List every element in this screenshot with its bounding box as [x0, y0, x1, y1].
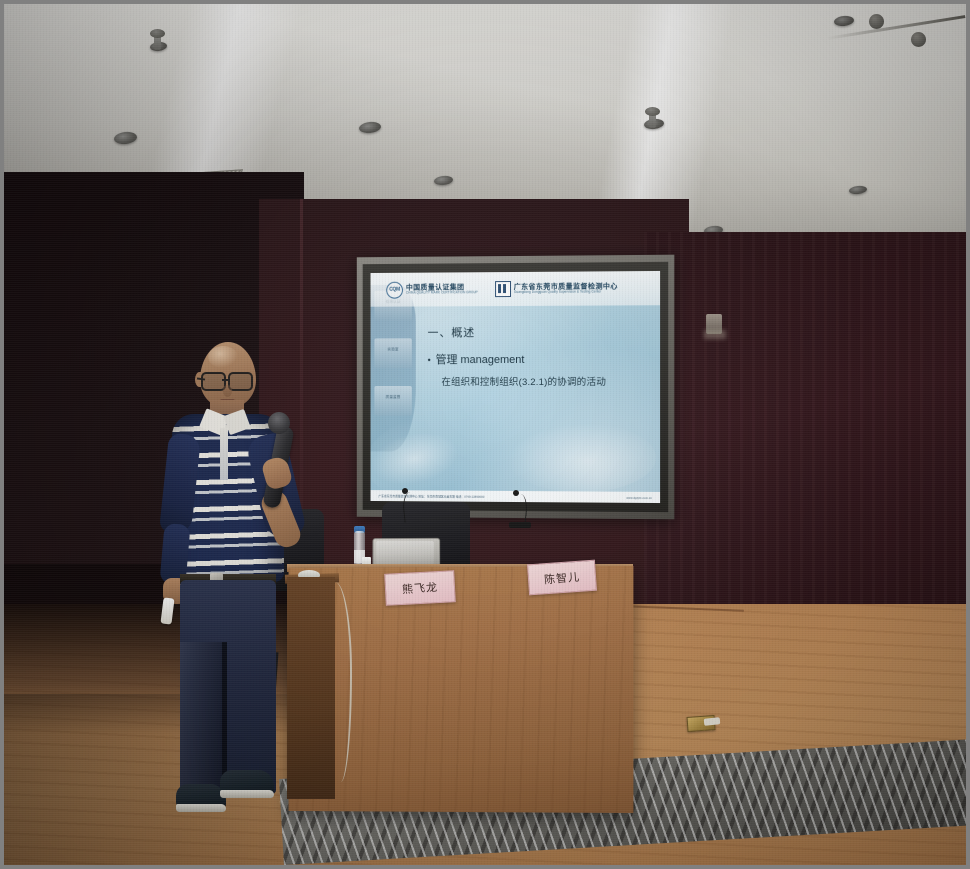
slide-bullet-text: 管理 management	[436, 351, 525, 367]
bullet-marker-icon: •	[428, 356, 431, 365]
speaker-nose	[223, 385, 232, 397]
track-light-icon	[911, 32, 926, 47]
track-light-icon	[869, 14, 884, 29]
conference-presentation-photo: 检测认证 实验室 质量监督 CQM 中国质量认证集团 CHINA QUALITY…	[0, 0, 970, 869]
ceiling-hook-icon	[649, 112, 656, 128]
slide-bullet-item: • 管理 management	[428, 351, 650, 367]
gdtc-logo-en: Guangdong Dongguan Quality Supervision &…	[514, 290, 614, 294]
slide-side-block: 实验室	[374, 338, 411, 368]
presentation-slide: 检测认证 实验室 质量监督 CQM 中国质量认证集团 CHINA QUALITY…	[371, 271, 661, 503]
gdtc-logo-text: 广东省东莞市质量监督检测中心 Guangdong Dongguan Qualit…	[514, 283, 618, 294]
gdtc-mark-icon	[495, 281, 511, 297]
slide-heading: 一、概述	[428, 323, 650, 340]
desk-microphone-stem	[401, 491, 419, 522]
name-card-text: 熊飞龙	[401, 579, 438, 597]
slide-decorative-swirl	[505, 422, 656, 493]
glasses-bridge-icon	[222, 379, 229, 381]
speaker-person	[164, 342, 294, 840]
speaker-shoe-sole-right	[220, 790, 274, 798]
slide-sub-text: 在组织和控制组织(3.2.1)的协调的活动	[428, 374, 650, 388]
slide-header: CQM 中国质量认证集团 CHINA QUALITY MARK CERTIFIC…	[371, 271, 661, 307]
name-card: 陈智儿	[527, 560, 597, 596]
desk-microphone-head-icon	[513, 490, 519, 496]
speaker-shoe-sole-left	[176, 804, 226, 812]
projection-screen: 检测认证 实验室 质量监督 CQM 中国质量认证集团 CHINA QUALITY…	[357, 255, 675, 520]
speaker-leg-shading	[180, 642, 222, 794]
shirt-placket	[220, 428, 228, 480]
desk-microphone-base	[509, 522, 531, 528]
lectern-cable	[324, 582, 352, 782]
slide-body: 一、概述 • 管理 management 在组织和控制组织(3.2.1)的协调的…	[428, 323, 650, 388]
speaker-head-highlight	[208, 346, 238, 368]
slide-footer-right: www.dgzjzx.com.cn	[626, 495, 652, 499]
name-card: 熊飞龙	[384, 570, 456, 606]
ceiling-hook-icon	[154, 34, 161, 50]
cqm-logo: CQM 中国质量认证集团 CHINA QUALITY MARK CERTIFIC…	[386, 281, 481, 298]
wall-fixture-glow	[704, 330, 726, 339]
wireless-presenter-remote[interactable]	[160, 597, 174, 624]
gdtc-logo: 广东省东莞市质量监督检测中心 Guangdong Dongguan Qualit…	[495, 280, 618, 297]
name-card-text: 陈智儿	[543, 568, 580, 587]
desk-microphone-head-icon	[402, 488, 408, 494]
screen-surface: 检测认证 实验室 质量监督 CQM 中国质量认证集团 CHINA QUALITY…	[371, 271, 661, 503]
cqm-logo-en: CHINA QUALITY MARK CERTIFICATION GROUP	[406, 291, 478, 295]
slide-side-block-caption: 质量监督	[374, 386, 411, 400]
speaker-leg-gap	[222, 642, 227, 792]
cqm-logo-text: 中国质量认证集团 CHINA QUALITY MARK CERTIFICATIO…	[406, 284, 481, 295]
cqm-mark-icon: CQM	[386, 281, 403, 298]
slide-footer-left: 广东省东莞市质量监督检测中心 地址：东莞市南城区元美东路 电话：0769-228…	[378, 494, 484, 499]
slide-side-block-caption: 实验室	[374, 338, 411, 352]
slide-side-block: 质量监督	[374, 386, 411, 416]
